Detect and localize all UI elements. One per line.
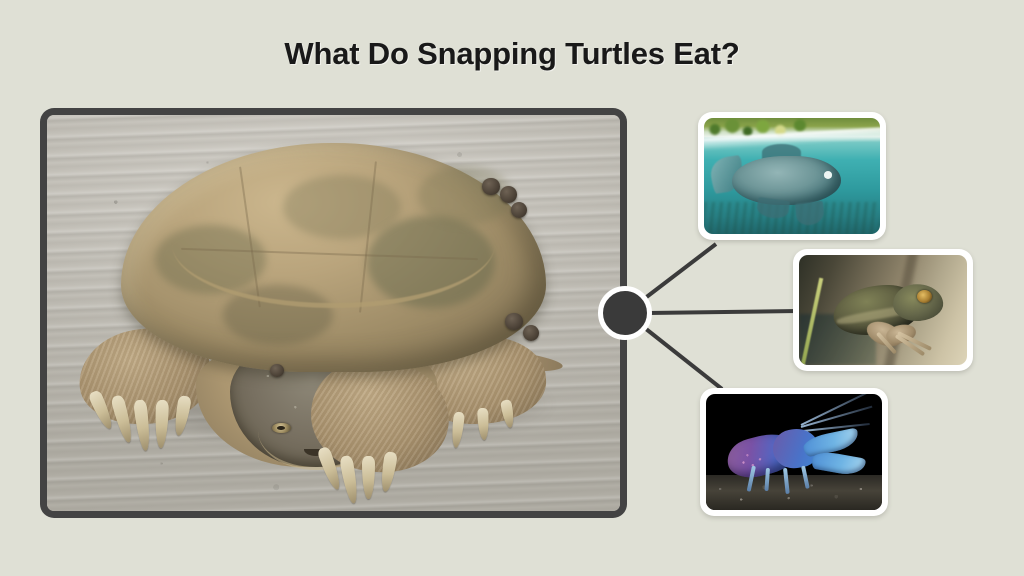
crayfish-claw-lower xyxy=(810,450,865,477)
food-thumbnail-fish[interactable] xyxy=(698,112,886,240)
food-thumbnail-frog[interactable] xyxy=(793,249,973,371)
crayfish-scene xyxy=(706,394,882,510)
connector-line-fish xyxy=(640,244,716,302)
shell-leech xyxy=(500,186,517,203)
turtle-claw xyxy=(450,411,465,448)
shell-leech xyxy=(511,202,527,218)
turtle-claw xyxy=(154,400,168,448)
shell-leech xyxy=(523,325,539,341)
snapping-turtle-illustration xyxy=(47,115,620,511)
frog-scene xyxy=(799,255,967,365)
food-thumbnail-crayfish[interactable] xyxy=(700,388,888,516)
connector-line-crayfish xyxy=(641,325,722,389)
food-thumbnail-fish-image xyxy=(704,118,880,234)
fish-scene xyxy=(704,118,880,234)
diagram-hub-node[interactable] xyxy=(598,286,652,340)
gravel-substrate xyxy=(706,475,882,510)
turtle-claw xyxy=(362,456,375,500)
shell-leech xyxy=(482,178,499,195)
main-photo-snapping-turtle xyxy=(47,115,620,511)
infographic-canvas: What Do Snapping Turtles Eat? xyxy=(0,0,1024,576)
turtle-carapace xyxy=(121,143,545,373)
shell-leech xyxy=(505,313,522,330)
food-thumbnail-crayfish-image xyxy=(706,394,882,510)
main-photo-frame xyxy=(40,108,627,518)
shell-blotch xyxy=(418,166,511,226)
page-title: What Do Snapping Turtles Eat? xyxy=(0,36,1024,72)
food-thumbnail-frog-image xyxy=(799,255,967,365)
turtle-claw xyxy=(477,408,490,440)
connector-line-frog xyxy=(648,311,798,313)
underwater-weeds xyxy=(704,202,880,234)
frog-eye xyxy=(917,290,932,303)
fish-body xyxy=(732,156,841,205)
